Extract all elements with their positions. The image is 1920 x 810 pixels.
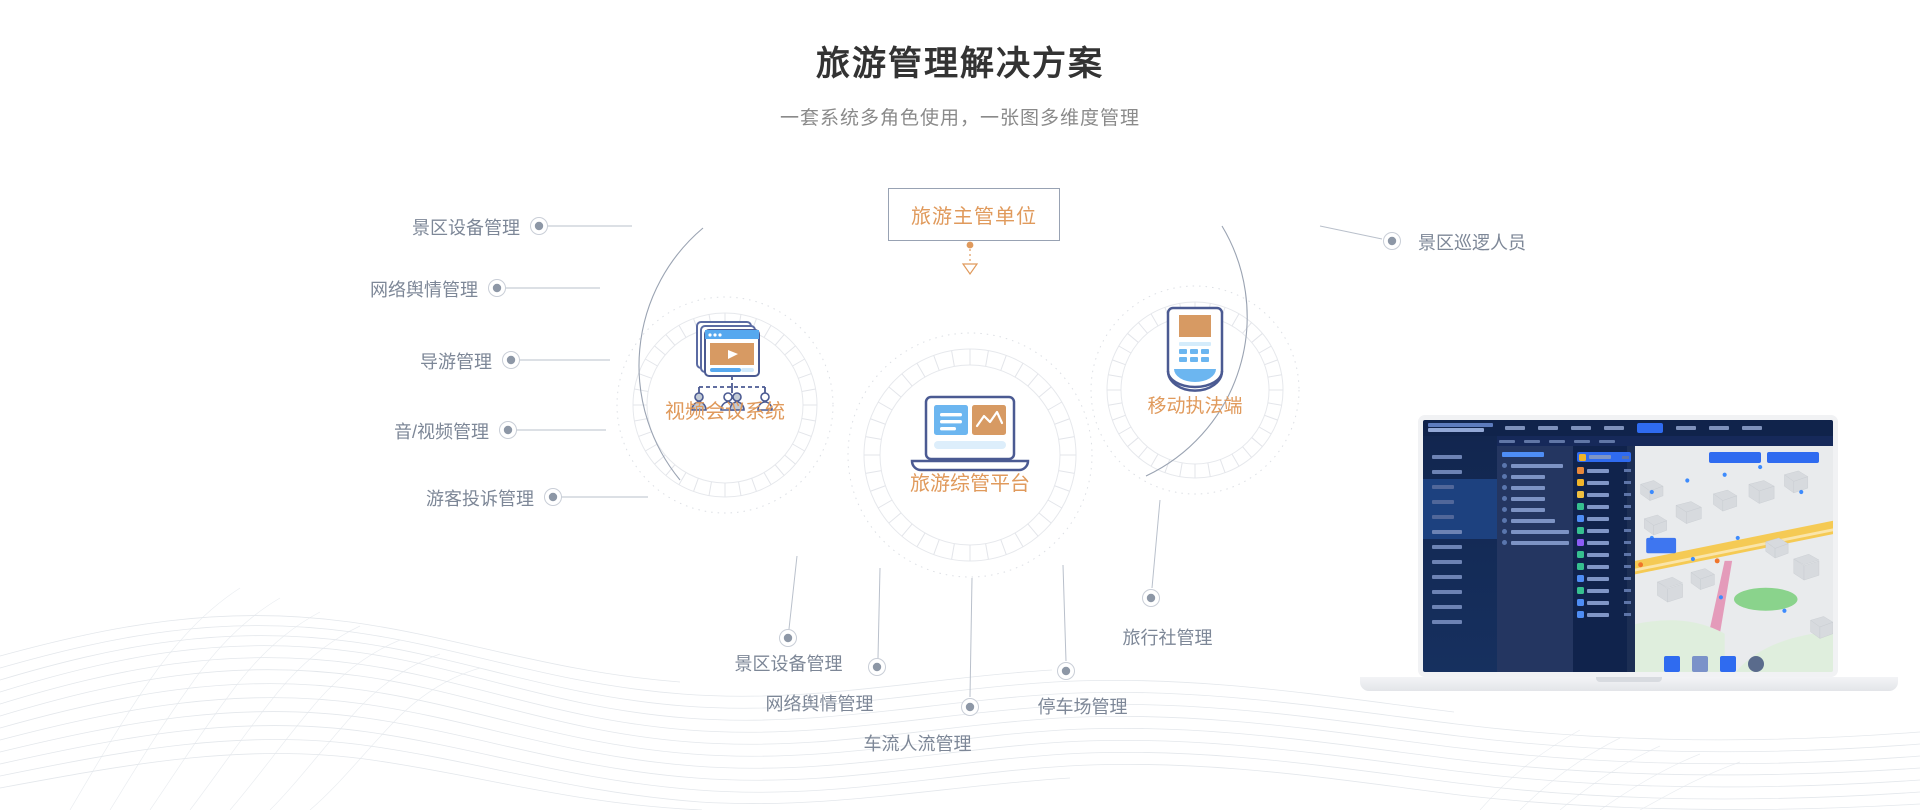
- bottom-connectors: [780, 500, 1161, 716]
- sidebar-item[interactable]: [1423, 584, 1497, 599]
- nav-item[interactable]: [1538, 426, 1558, 430]
- layer-row[interactable]: [1577, 599, 1631, 606]
- map-bottom-dock[interactable]: [1664, 656, 1764, 672]
- map-layer-dropdown[interactable]: [1709, 452, 1761, 463]
- sidebar-item[interactable]: [1423, 614, 1497, 629]
- authority-connector-dot: [967, 242, 974, 249]
- left-label-audio-video[interactable]: 音/视频管理: [269, 418, 489, 444]
- nav-item[interactable]: [1676, 426, 1696, 430]
- sidebar-item-selected[interactable]: [1423, 479, 1497, 494]
- circle-caption-video-conference: 视频会议系统: [650, 395, 800, 424]
- tab-chip[interactable]: [1499, 440, 1515, 443]
- bottom-label-traffic-flow[interactable]: 车流人流管理: [855, 730, 980, 756]
- right-label-scenic-patrol[interactable]: 景区巡逻人员: [1418, 229, 1526, 255]
- bottom-label-parking[interactable]: 停车场管理: [1020, 693, 1145, 719]
- tab-chip[interactable]: [1599, 440, 1615, 443]
- layer-row-active[interactable]: [1577, 452, 1631, 462]
- layer-row[interactable]: [1577, 491, 1631, 498]
- dock-button[interactable]: [1664, 656, 1680, 672]
- left-label-scenic-equipment[interactable]: 景区设备管理: [300, 214, 520, 240]
- dashboard-topbar: [1423, 420, 1833, 436]
- laptop-notch: [1596, 677, 1662, 682]
- dashboard-sidebar[interactable]: [1423, 436, 1497, 672]
- sidebar-subitem[interactable]: [1423, 494, 1497, 509]
- page-header: 旅游管理解决方案 一套系统多角色使用，一张图多维度管理: [0, 0, 1920, 130]
- bottom-label-travel-agency[interactable]: 旅行社管理: [1105, 624, 1230, 650]
- circle-caption-mobile-enforcement: 移动执法端: [1130, 391, 1260, 418]
- sidebar-item[interactable]: [1423, 449, 1497, 464]
- nav-item[interactable]: [1709, 426, 1729, 430]
- layer-row[interactable]: [1577, 563, 1631, 570]
- sidebar-item[interactable]: [1423, 524, 1497, 539]
- page-title: 旅游管理解决方案: [0, 36, 1920, 85]
- layer-row[interactable]: [1577, 539, 1631, 546]
- panel-header: [1502, 452, 1544, 457]
- layer-row[interactable]: [1577, 479, 1631, 486]
- map-view-toggle[interactable]: [1767, 452, 1819, 463]
- dock-button[interactable]: [1692, 656, 1708, 672]
- mobile-terminal-icon: [1168, 308, 1222, 391]
- nav-item[interactable]: [1571, 426, 1591, 430]
- sidebar-subitem[interactable]: [1423, 509, 1497, 524]
- sidebar-item[interactable]: [1423, 554, 1497, 569]
- right-connectors: [1320, 226, 1401, 250]
- map-toolbar[interactable]: [1709, 452, 1819, 463]
- laptop-mockup: [1360, 415, 1898, 695]
- map-3d-graphic: [1635, 446, 1833, 672]
- layer-row[interactable]: [1577, 503, 1631, 510]
- left-label-tour-guide[interactable]: 导游管理: [272, 348, 492, 374]
- nav-item-active[interactable]: [1637, 423, 1663, 433]
- circle-caption-central-platform: 旅游综管平台: [895, 467, 1045, 496]
- authority-arrow-triangle: [963, 264, 977, 274]
- dashboard-layer-list[interactable]: [1573, 446, 1635, 672]
- sidebar-item[interactable]: [1423, 464, 1497, 479]
- laptop-screen: [1418, 415, 1838, 677]
- layer-row[interactable]: [1577, 515, 1631, 522]
- sidebar-item[interactable]: [1423, 599, 1497, 614]
- tab-chip[interactable]: [1549, 440, 1565, 443]
- page-subtitle: 一套系统多角色使用，一张图多维度管理: [0, 103, 1920, 130]
- tab-chip[interactable]: [1524, 440, 1540, 443]
- tourism-dashboard: [1423, 420, 1833, 672]
- bottom-label-scenic-equipment[interactable]: 景区设备管理: [726, 650, 851, 676]
- layer-row[interactable]: [1577, 611, 1631, 618]
- sidebar-item[interactable]: [1423, 569, 1497, 584]
- dashboard-logo: [1423, 423, 1493, 434]
- sidebar-item[interactable]: [1423, 539, 1497, 554]
- layer-row[interactable]: [1577, 527, 1631, 534]
- layer-row[interactable]: [1577, 587, 1631, 594]
- bottom-label-network-opinion[interactable]: 网络舆情管理: [757, 690, 882, 716]
- dashboard-map-canvas[interactable]: [1635, 446, 1833, 672]
- left-label-network-opinion[interactable]: 网络舆情管理: [258, 276, 478, 302]
- dashboard-nav[interactable]: [1493, 423, 1762, 433]
- laptop-dashboard-icon: [912, 397, 1028, 470]
- tab-chip[interactable]: [1574, 440, 1590, 443]
- authority-box[interactable]: 旅游主管单位: [888, 188, 1060, 241]
- dock-button[interactable]: [1748, 656, 1764, 672]
- left-connectors: [489, 218, 649, 506]
- infographic-page: 旅游管理解决方案 一套系统多角色使用，一张图多维度管理: [0, 0, 1920, 810]
- nav-item[interactable]: [1742, 426, 1762, 430]
- left-label-tourist-complaint[interactable]: 游客投诉管理: [314, 485, 534, 511]
- layer-row[interactable]: [1577, 467, 1631, 474]
- nav-item[interactable]: [1505, 426, 1525, 430]
- layer-row[interactable]: [1577, 575, 1631, 582]
- dock-button[interactable]: [1720, 656, 1736, 672]
- layer-row[interactable]: [1577, 551, 1631, 558]
- nav-item[interactable]: [1604, 426, 1624, 430]
